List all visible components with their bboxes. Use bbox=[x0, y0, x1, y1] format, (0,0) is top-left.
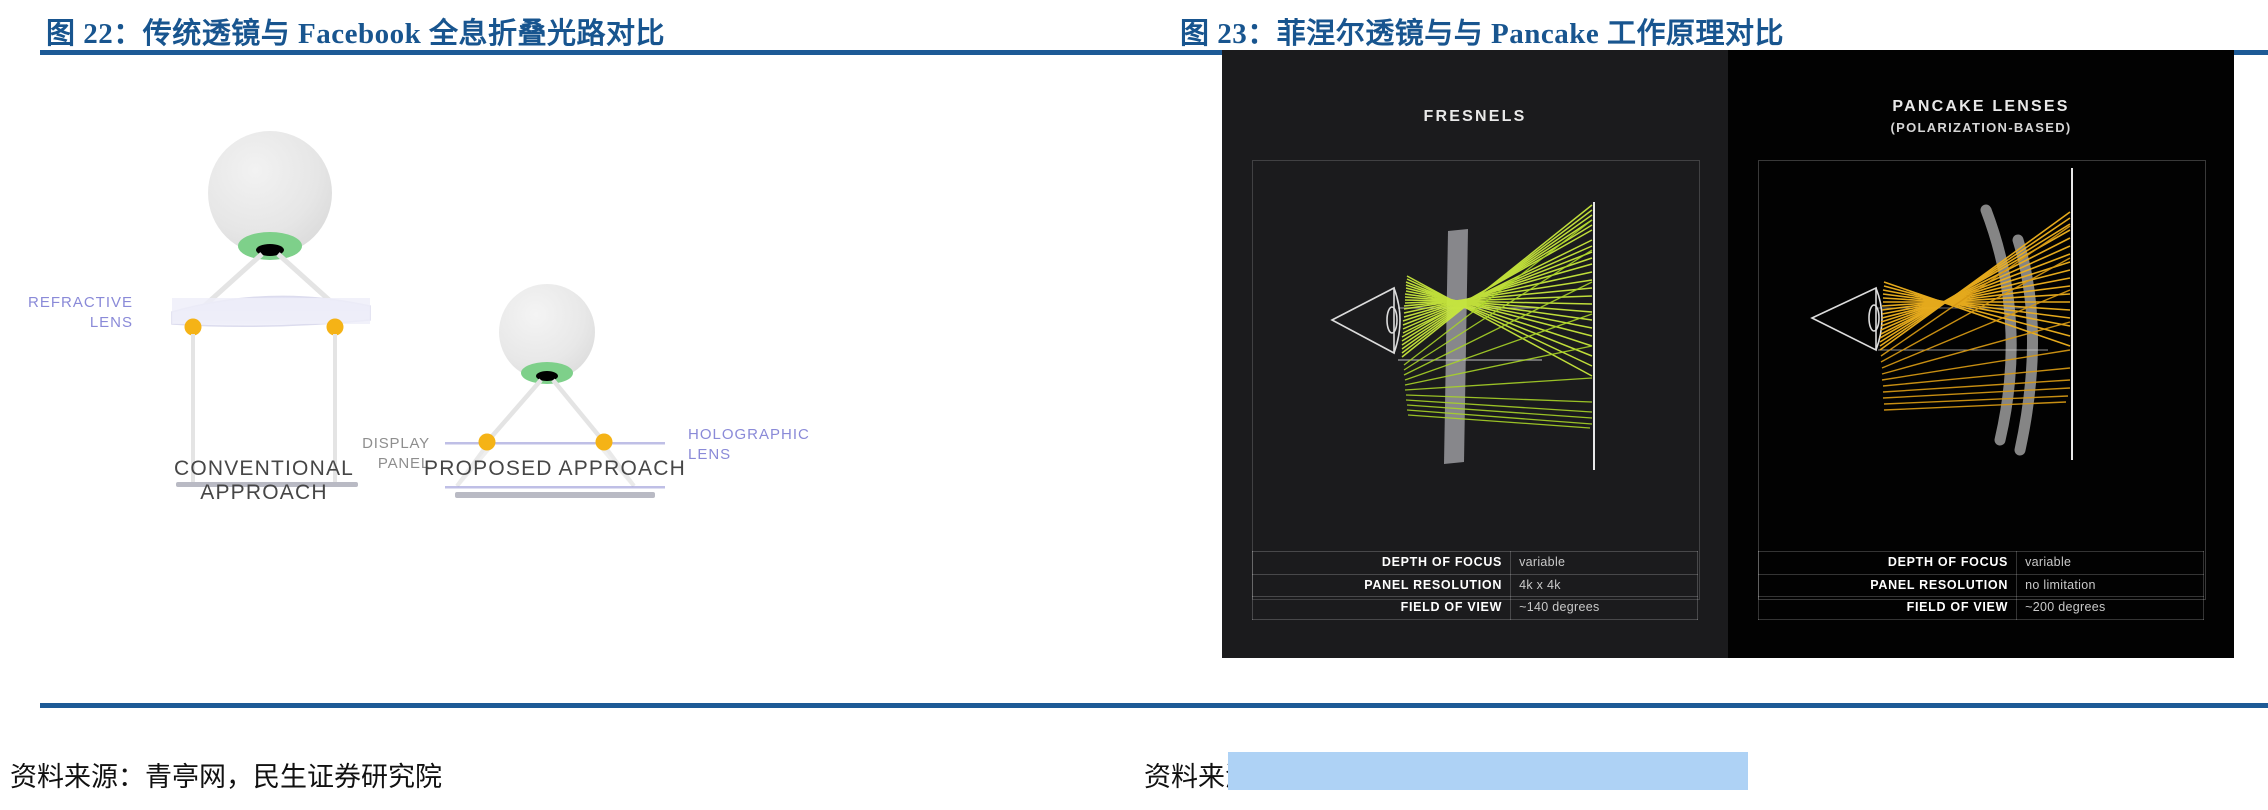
table-row: PANEL RESOLUTION 4k x 4k bbox=[1253, 574, 1698, 597]
spec-key: FIELD OF VIEW bbox=[1253, 597, 1511, 620]
spec-key: FIELD OF VIEW bbox=[1759, 597, 2017, 620]
eye-icon bbox=[1332, 288, 1400, 353]
spec-value: 4k x 4k bbox=[1511, 574, 1698, 597]
conventional-approach-group: REFRACTIVE LENS bbox=[28, 131, 370, 487]
spec-value: no limitation bbox=[2017, 574, 2204, 597]
pancake-spec-rows: DEPTH OF FOCUS variable PANEL RESOLUTION… bbox=[1759, 552, 2204, 620]
figure-22-title: 图 22：传统透镜与 Facebook 全息折叠光路对比 bbox=[46, 10, 665, 52]
spec-key: DEPTH OF FOCUS bbox=[1759, 552, 2017, 575]
text-selection-highlight[interactable] bbox=[1228, 752, 1748, 790]
spec-value: variable bbox=[1511, 552, 1698, 575]
spec-value: ~200 degrees bbox=[2017, 597, 2204, 620]
refractive-lens-label-line1: REFRACTIVE bbox=[28, 294, 133, 311]
spec-key: PANEL RESOLUTION bbox=[1253, 574, 1511, 597]
pancake-spec-table: DEPTH OF FOCUS variable PANEL RESOLUTION… bbox=[1758, 551, 2204, 620]
spec-value: ~140 degrees bbox=[1511, 597, 1698, 620]
figure-page: 图 22：传统透镜与 Facebook 全息折叠光路对比 bbox=[0, 0, 2268, 810]
display-panel-label-line1: DISPLAY bbox=[362, 435, 430, 452]
fresnels-spec-rows: DEPTH OF FOCUS variable PANEL RESOLUTION… bbox=[1253, 552, 1698, 620]
pancake-panel: PANCAKE LENSES (POLARIZATION-BASED) bbox=[1728, 50, 2234, 658]
spec-value: variable bbox=[2017, 552, 2204, 575]
spec-key: DEPTH OF FOCUS bbox=[1253, 552, 1511, 575]
figure-23-title: 图 23：菲涅尔透镜与与 Pancake 工作原理对比 bbox=[1180, 10, 1784, 52]
fresnels-panel: FRESNELS bbox=[1222, 50, 1728, 658]
table-row: FIELD OF VIEW ~140 degrees bbox=[1253, 597, 1698, 620]
fresnel-lens-element bbox=[1444, 229, 1468, 464]
table-row: DEPTH OF FOCUS variable bbox=[1253, 552, 1698, 575]
table-row: DEPTH OF FOCUS variable bbox=[1759, 552, 2204, 575]
conventional-approach-label: CONVENTIONAL APPROACH bbox=[114, 457, 414, 505]
holographic-lens-label-line1: HOLOGRAPHIC bbox=[688, 426, 810, 443]
eye-icon bbox=[1812, 288, 1882, 350]
figure-23-bottom-rule bbox=[1174, 703, 2268, 708]
figure-22-illustration: REFRACTIVE LENS bbox=[0, 62, 1134, 702]
proposed-approach-label: PROPOSED APPROACH bbox=[390, 457, 720, 481]
fresnel-ray-bundle bbox=[1402, 205, 1592, 376]
figure-panel-right: 图 23：菲涅尔透镜与与 Pancake 工作原理对比 FRESNELS bbox=[1134, 0, 2268, 810]
spec-key: PANEL RESOLUTION bbox=[1759, 574, 2017, 597]
refractive-lens-label-line2: LENS bbox=[90, 314, 133, 331]
table-row: PANEL RESOLUTION no limitation bbox=[1759, 574, 2204, 597]
figure-22-source: 资料来源：青亭网，民生证券研究院 bbox=[10, 755, 442, 794]
table-row: FIELD OF VIEW ~200 degrees bbox=[1759, 597, 2204, 620]
figure-23-photo: FRESNELS bbox=[1222, 50, 2234, 658]
fresnels-spec-table: DEPTH OF FOCUS variable PANEL RESOLUTION… bbox=[1252, 551, 1698, 620]
figure-panel-left: 图 22：传统透镜与 Facebook 全息折叠光路对比 bbox=[0, 0, 1134, 810]
